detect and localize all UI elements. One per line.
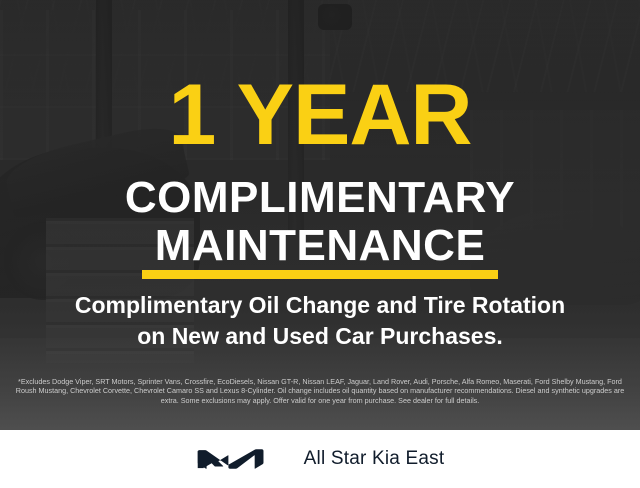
accent-divider — [142, 270, 498, 279]
hero-background: 1 YEAR COMPLIMENTARY MAINTENANCE Complim… — [0, 0, 640, 430]
subhead-line-2: on New and Used Car Purchases. — [0, 321, 640, 351]
kia-logo-icon — [196, 449, 282, 470]
hero-content: 1 YEAR COMPLIMENTARY MAINTENANCE Complim… — [0, 0, 640, 430]
disclaimer-text: *Excludes Dodge Viper, SRT Motors, Sprin… — [14, 377, 626, 405]
headline-secondary-line-2: MAINTENANCE — [0, 224, 640, 268]
headline-secondary-line-1: COMPLIMENTARY — [0, 176, 640, 220]
promotional-banner: 1 YEAR COMPLIMENTARY MAINTENANCE Complim… — [0, 0, 640, 488]
footer-bar: All Star Kia East — [0, 430, 640, 488]
subhead-line-1: Complimentary Oil Change and Tire Rotati… — [0, 290, 640, 320]
headline-primary: 1 YEAR — [0, 72, 640, 158]
dealer-name: All Star Kia East — [304, 448, 445, 470]
